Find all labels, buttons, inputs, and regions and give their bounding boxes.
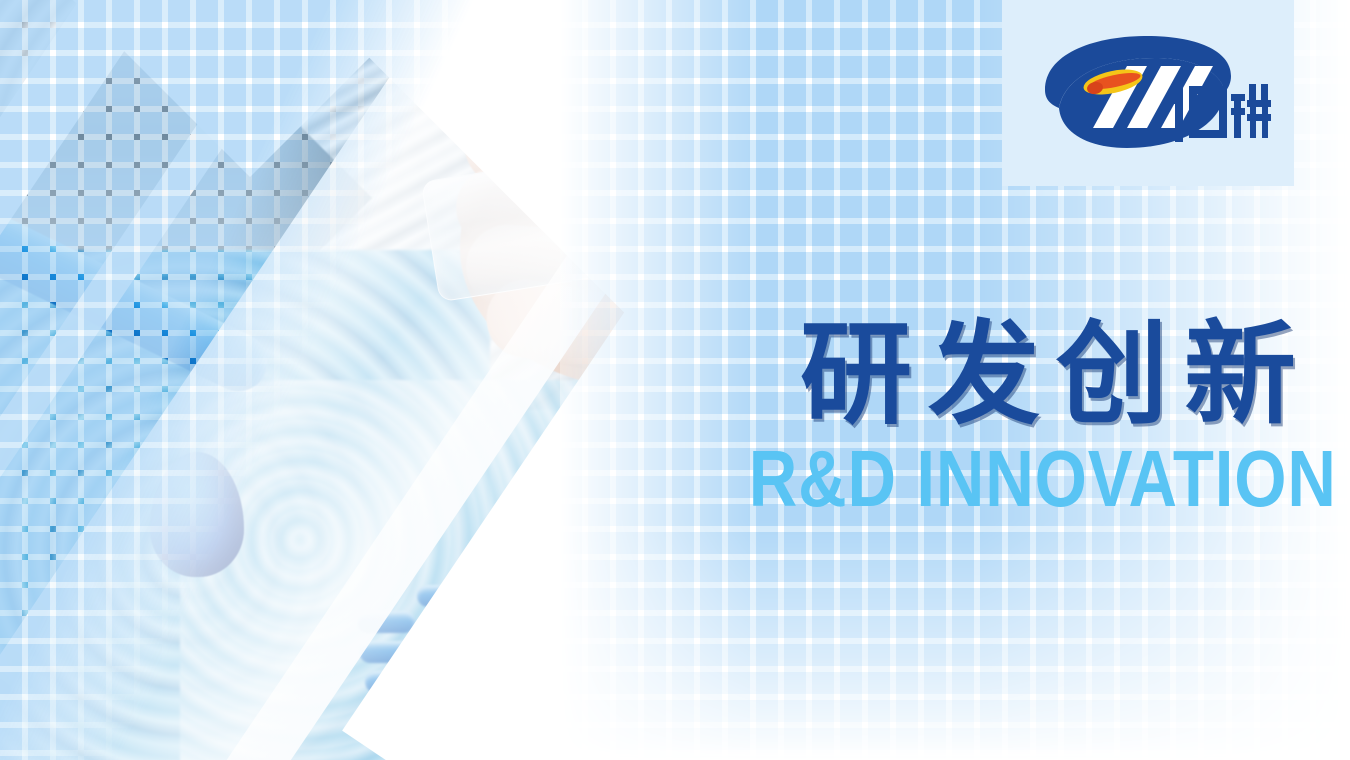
hengrui-logo[interactable]: [1035, 32, 1273, 154]
headline-block: 研发创新 R&D INNOVATION: [640, 316, 1320, 519]
rd-innovation-banner: 研发创新 R&D INNOVATION: [0, 0, 1350, 760]
headline-english: R&D INNOVATION: [749, 439, 1320, 519]
headline-chinese: 研发创新: [640, 316, 1320, 435]
hengrui-logo-icon: [1035, 32, 1273, 154]
